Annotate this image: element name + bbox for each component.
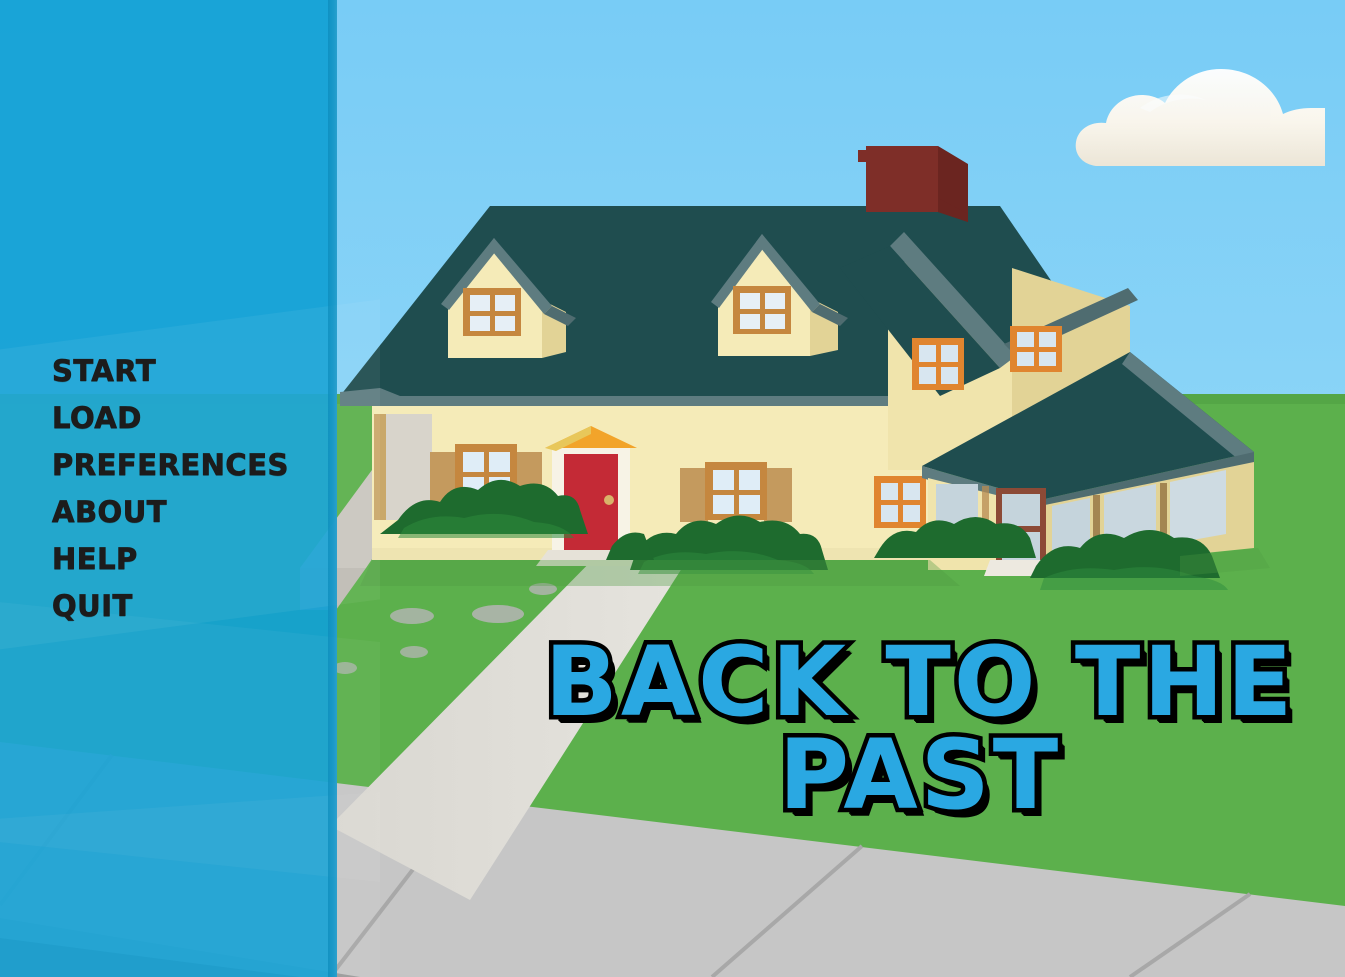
- menu-item-about[interactable]: ABOUT: [52, 489, 289, 536]
- chimney: [858, 146, 968, 222]
- dormer-glass: [470, 316, 490, 331]
- dormer-glass: [495, 295, 515, 311]
- sunroom-glass: [1170, 470, 1226, 544]
- menu-panel-band-lower: [0, 792, 380, 977]
- dormer-glass: [740, 293, 760, 309]
- sunroom-door-glass: [1002, 494, 1040, 526]
- main-menu-list: START LOAD PREFERENCES ABOUT HELP QUIT: [52, 348, 289, 630]
- dormer-glass: [765, 293, 785, 309]
- menu-panel-edge: [328, 0, 337, 977]
- menu-item-help[interactable]: HELP: [52, 536, 289, 583]
- gable-window-left: [912, 338, 964, 390]
- gable-window-right: [1010, 326, 1062, 372]
- menu-item-load[interactable]: LOAD: [52, 395, 289, 442]
- shutter: [764, 468, 792, 522]
- house-shadow: [360, 560, 960, 586]
- shutter: [680, 468, 708, 522]
- menu-item-quit[interactable]: QUIT: [52, 583, 289, 630]
- window-glass: [489, 452, 510, 472]
- walkway-stone: [400, 646, 428, 658]
- window-glass: [713, 495, 734, 514]
- window-glass: [739, 470, 760, 490]
- dormer-glass: [765, 314, 785, 329]
- window-glass: [713, 470, 734, 490]
- window-glass: [739, 495, 760, 514]
- door-knob: [604, 495, 614, 505]
- game-title-screen: BACK TO THE PAST START LOAD PREFERENCES …: [0, 0, 1345, 977]
- dormer-glass: [470, 295, 490, 311]
- window-glass: [463, 452, 484, 472]
- dormer-glass: [495, 316, 515, 331]
- front-window-right: [680, 462, 792, 522]
- gable-window-lower: [874, 476, 926, 528]
- walkway-stone: [472, 605, 524, 623]
- dormer-glass: [740, 314, 760, 329]
- menu-item-start[interactable]: START: [52, 348, 289, 395]
- walkway-stone: [390, 608, 434, 624]
- menu-item-preferences[interactable]: PREFERENCES: [52, 442, 289, 489]
